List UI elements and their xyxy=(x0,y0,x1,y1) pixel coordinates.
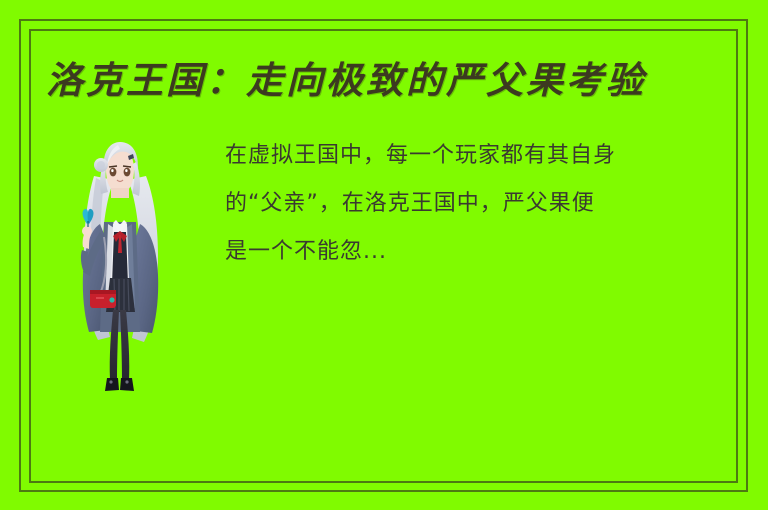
body-line: 的“父亲”，在洛克王国中，严父果便 xyxy=(225,180,745,228)
body-line: 是一个不能忽... xyxy=(225,228,745,276)
anime-girl-illustration xyxy=(56,132,184,410)
shoes xyxy=(105,378,134,391)
poster-canvas: 洛克王国：走向极致的严父果考验 在虚拟王国中，每一个玩家都有其自身 的“父亲”，… xyxy=(0,0,768,510)
page-title: 洛克王国：走向极致的严父果考验 xyxy=(46,60,706,101)
body-line: 在虚拟王国中，每一个玩家都有其自身 xyxy=(225,132,745,180)
body-paragraph: 在虚拟王国中，每一个玩家都有其自身 的“父亲”，在洛克王国中，严父果便 是一个不… xyxy=(225,132,745,276)
